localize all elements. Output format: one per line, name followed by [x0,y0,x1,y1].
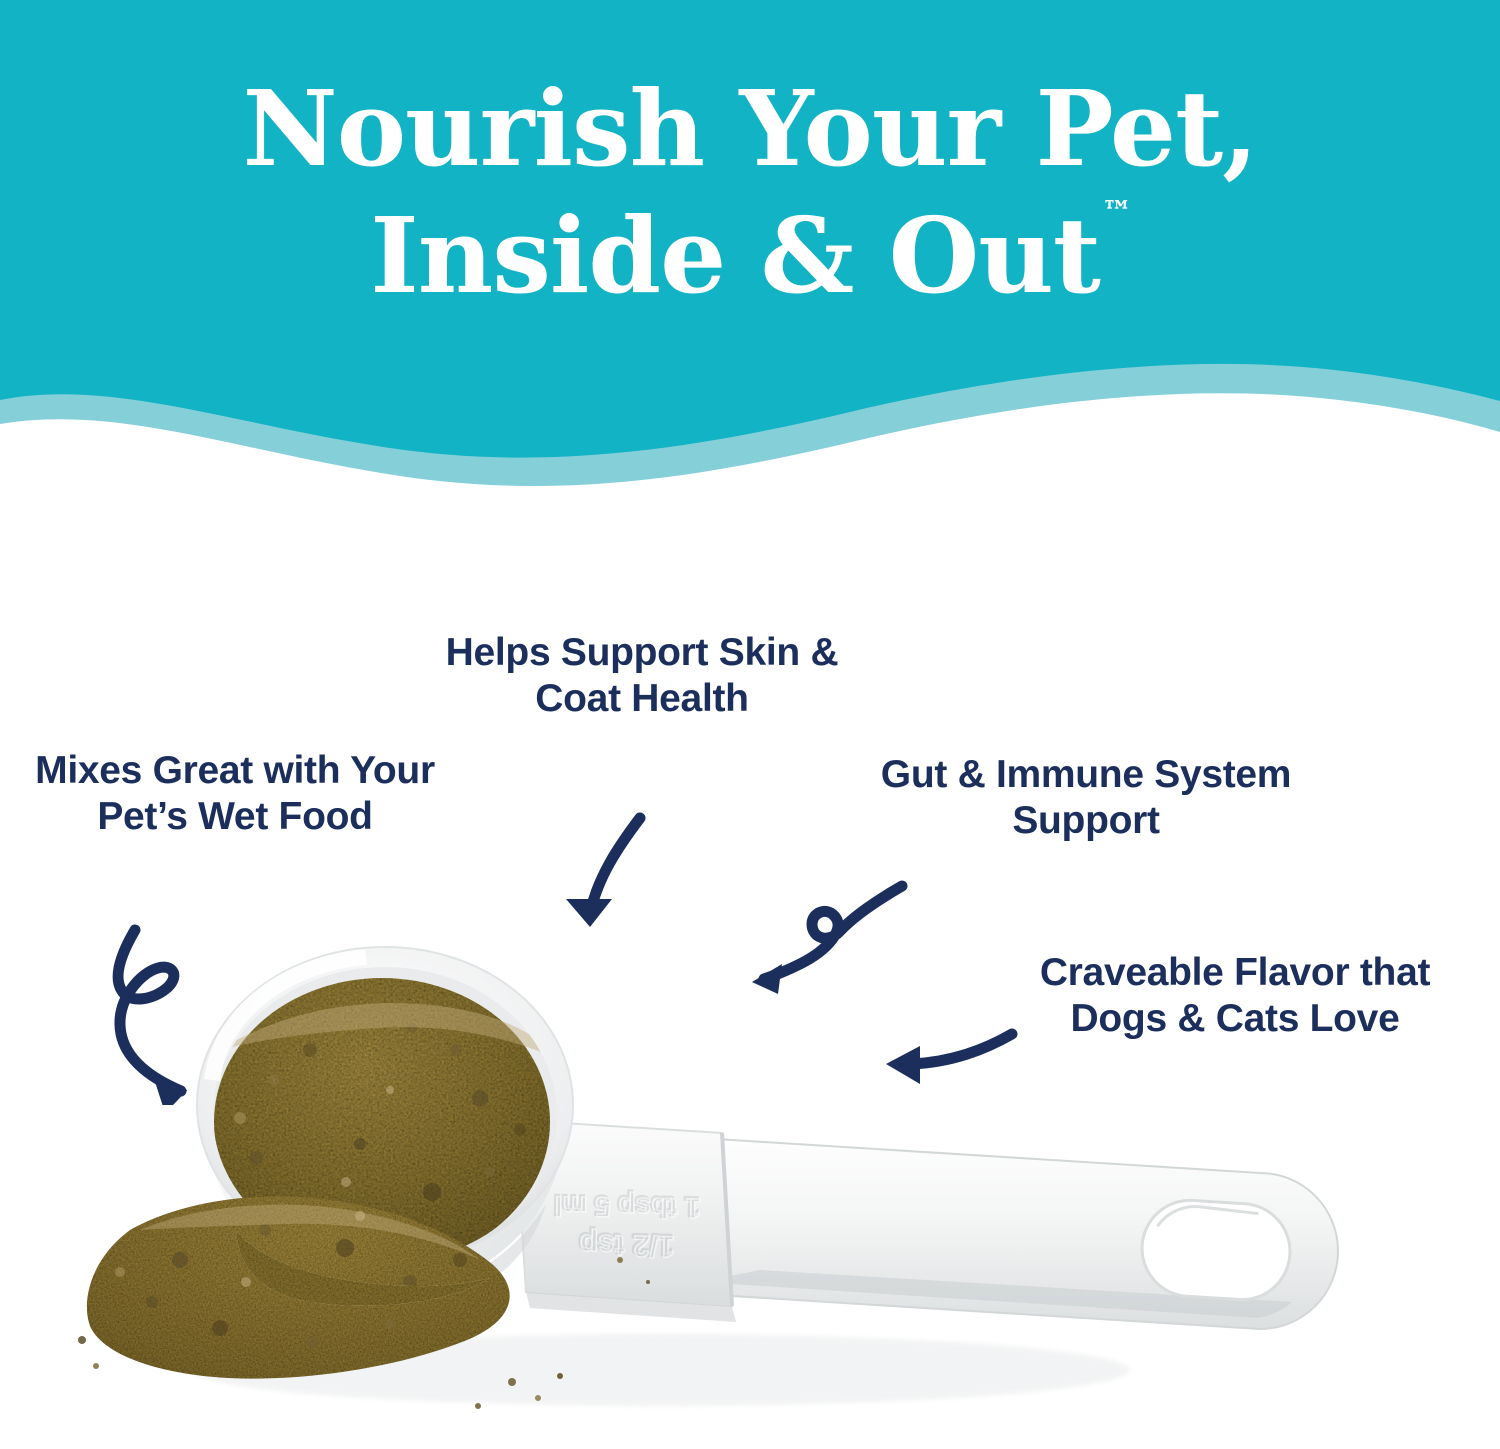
arrowhead [566,899,612,927]
callout-label-skin-coat: Helps Support Skin & Coat Health [432,630,852,722]
svg-text:1 tbsp 5 ml: 1 tbsp 5 ml [555,1191,702,1225]
callout-label-gut-immune: Gut & Immune System Support [862,752,1310,844]
handle-hanging-hole [1139,1197,1293,1302]
marketing-infographic: Nourish Your Pet, Inside & Out™ Mixes Gr… [0,0,1500,1449]
scoop-handle-far [700,1138,1338,1329]
svg-text:1/2 tsp: 1/2 tsp [580,1228,676,1263]
product-photo-scoop-with-powder: 1/2 tsp 1 tbsp 5 ml 1/2 tsp 1 tbsp 5 ml [60,930,1480,1449]
curved-arrow-down-left-icon [548,805,688,945]
callout-label-mixes-great: Mixes Great with Your Pet’s Wet Food [30,748,440,840]
header-banner: Nourish Your Pet, Inside & Out™ [0,0,1500,500]
